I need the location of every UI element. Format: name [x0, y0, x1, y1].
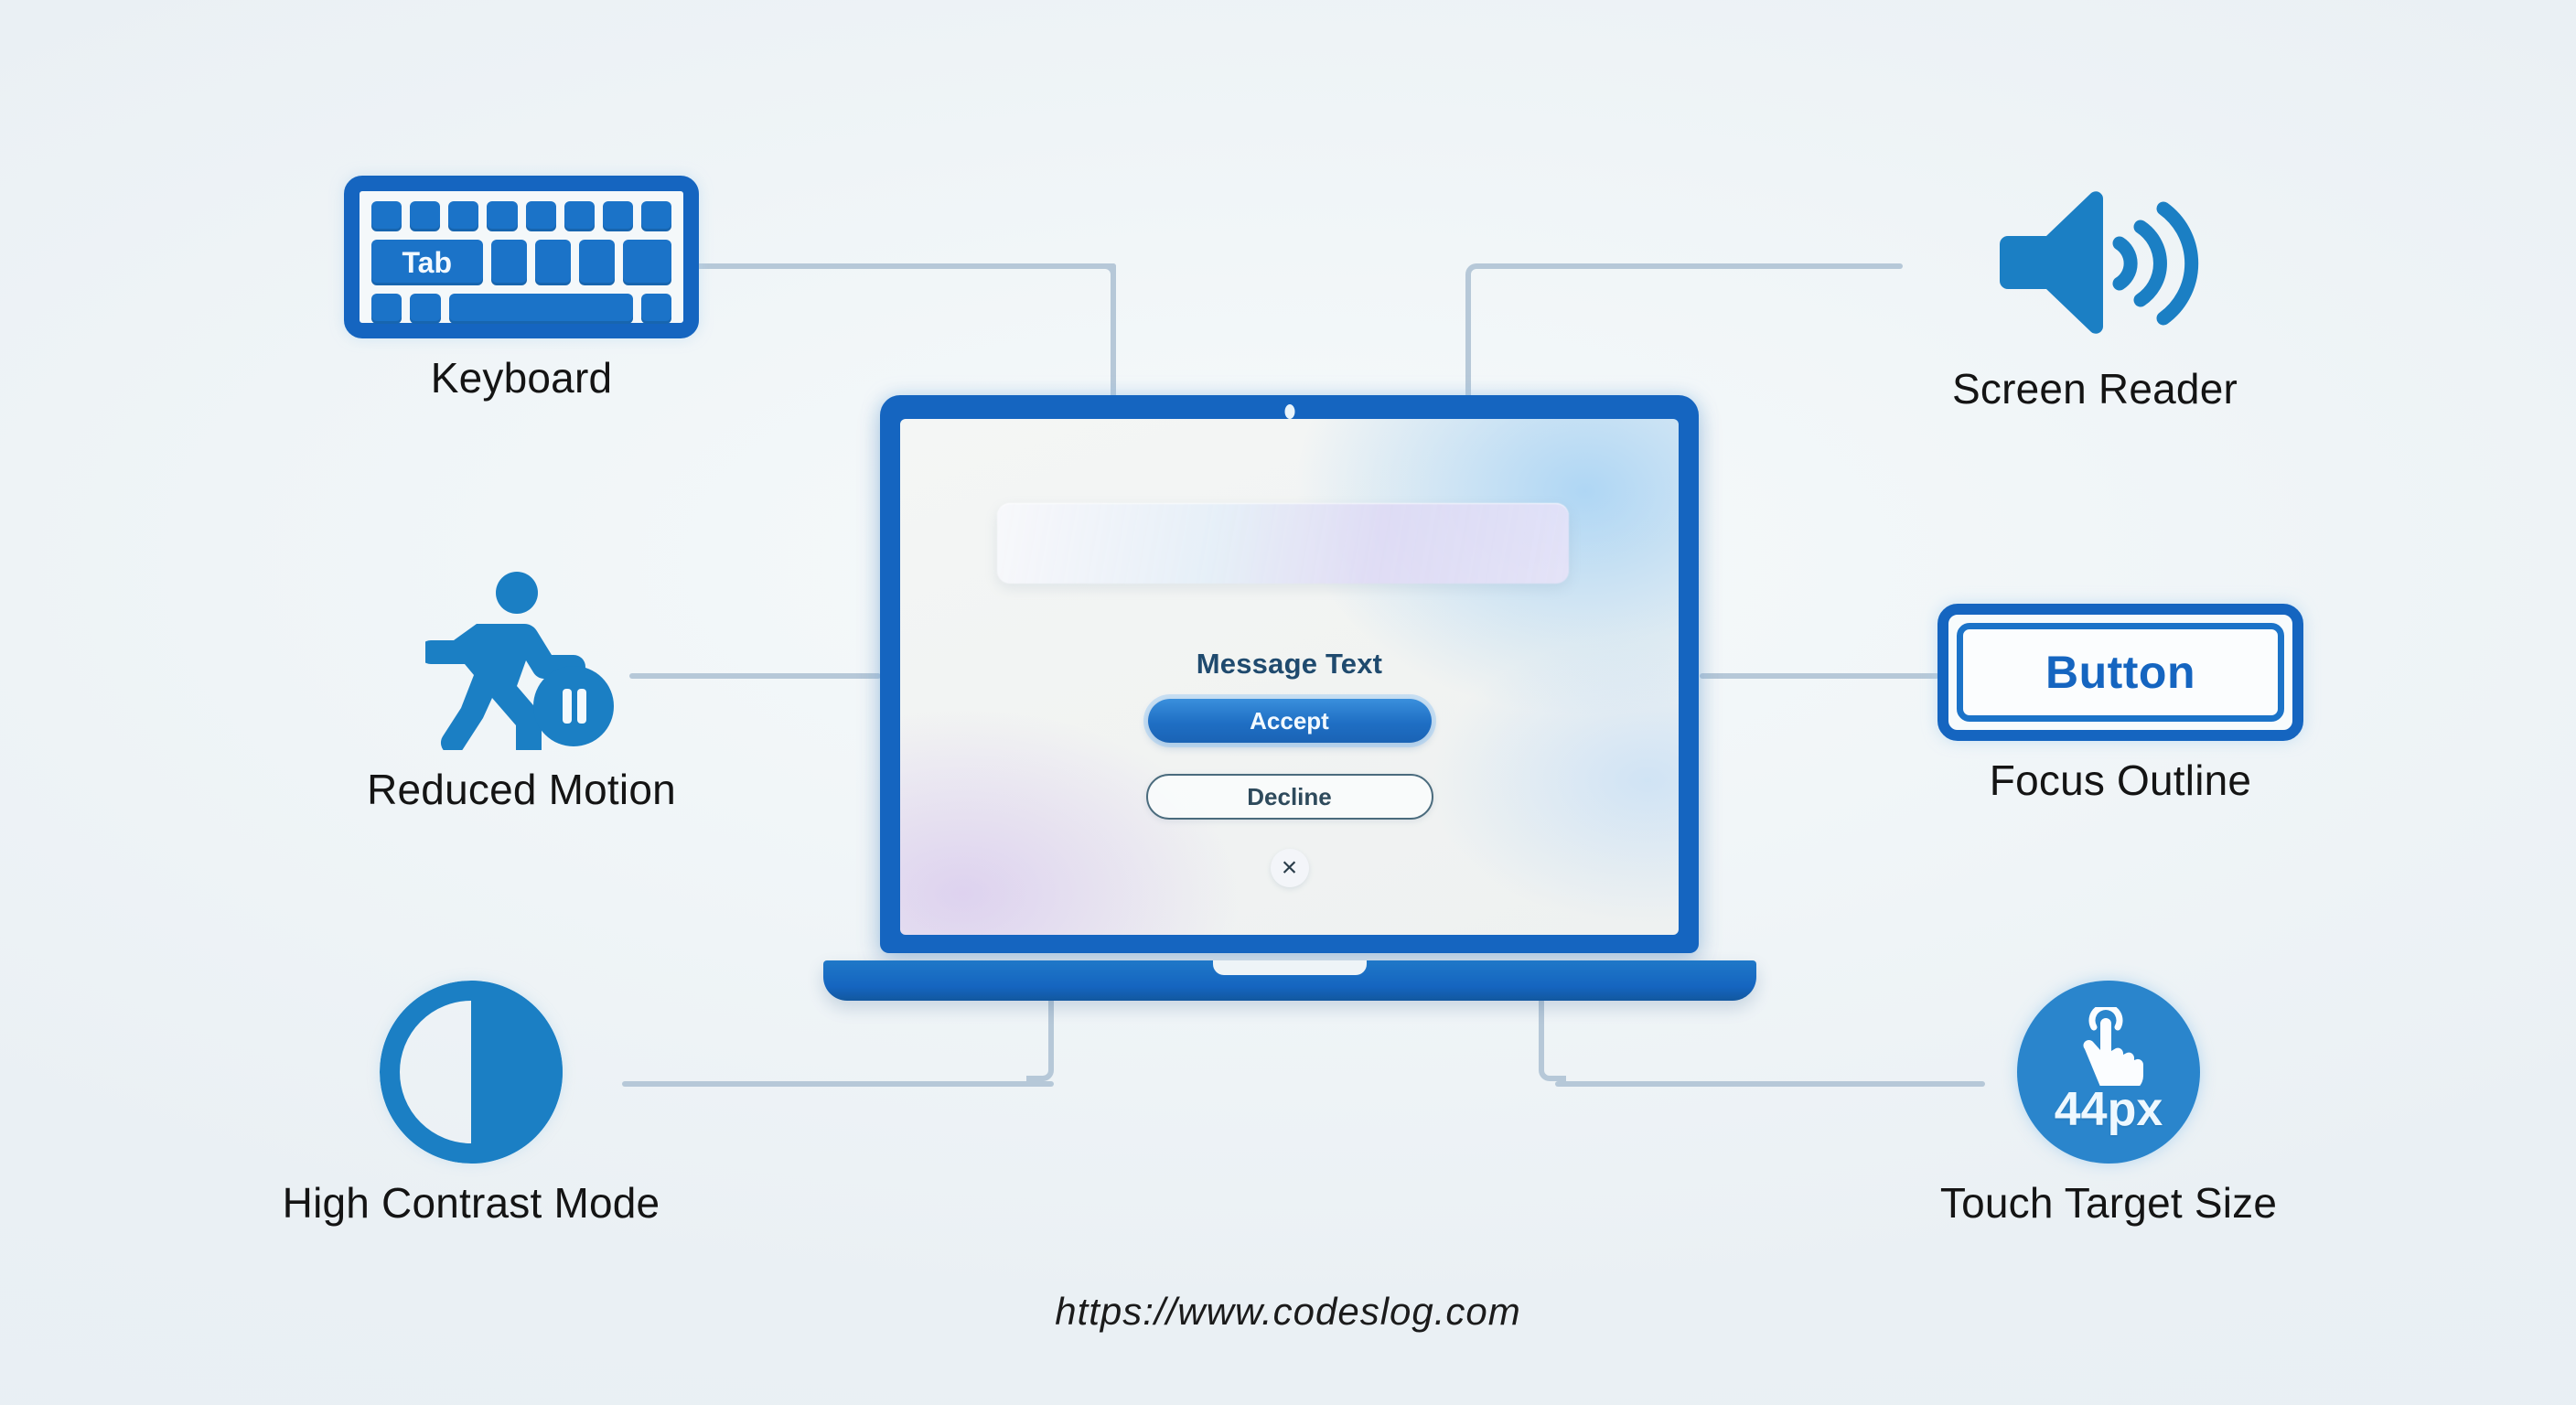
laptop-device: Message Text Accept Decline ×: [880, 395, 1699, 1001]
feature-high-contrast[interactable]: High Contrast Mode: [389, 981, 553, 1228]
feature-caption: Screen Reader: [1952, 364, 2238, 413]
tap-hand-icon: 44px: [2017, 981, 2200, 1164]
laptop-screen: Message Text Accept Decline ×: [900, 419, 1679, 935]
feature-caption: Keyboard: [431, 353, 613, 402]
feature-focus-outline[interactable]: Button Focus Outline: [1937, 604, 2303, 805]
accept-button-label: Accept: [1250, 707, 1329, 735]
feature-caption: Reduced Motion: [367, 765, 676, 814]
decline-button[interactable]: Decline: [1146, 774, 1433, 820]
infographic-stage: Tab Keyboard: [0, 0, 2576, 1405]
touch-target-size-label: 44px: [2055, 1082, 2163, 1137]
focus-button-label: Button: [2045, 646, 2195, 699]
keyboard-icon: Tab: [344, 176, 699, 338]
decline-button-label: Decline: [1247, 783, 1332, 811]
keyboard-tab-key: Tab: [371, 240, 483, 285]
dialog-message: Message Text: [900, 648, 1679, 681]
half-filled-circle-icon: [380, 981, 563, 1164]
close-icon: ×: [1282, 854, 1298, 882]
feature-caption: Focus Outline: [1990, 756, 2251, 805]
running-person-pause-icon: [425, 567, 617, 750]
feature-keyboard[interactable]: Tab Keyboard: [338, 176, 704, 402]
webcam-icon: [1284, 404, 1294, 419]
accept-button[interactable]: Accept: [1148, 699, 1432, 743]
close-button[interactable]: ×: [1271, 849, 1309, 887]
feature-caption: High Contrast Mode: [283, 1178, 660, 1228]
dialog-banner-image: [997, 503, 1569, 584]
focus-ring-icon[interactable]: Button: [1937, 604, 2303, 741]
footer-url: https://www.codeslog.com: [0, 1290, 2576, 1334]
laptop-base-notch: [1213, 960, 1367, 975]
laptop-lid: Message Text Accept Decline ×: [880, 395, 1699, 953]
feature-screen-reader[interactable]: Screen Reader: [1930, 176, 2259, 413]
feature-caption: Touch Target Size: [1940, 1178, 2277, 1228]
speaker-waves-icon: [1980, 176, 2209, 349]
feature-touch-target[interactable]: 44px Touch Target Size: [2017, 981, 2200, 1228]
laptop-base: [823, 960, 1756, 1001]
feature-reduced-motion[interactable]: Reduced Motion: [384, 567, 659, 814]
